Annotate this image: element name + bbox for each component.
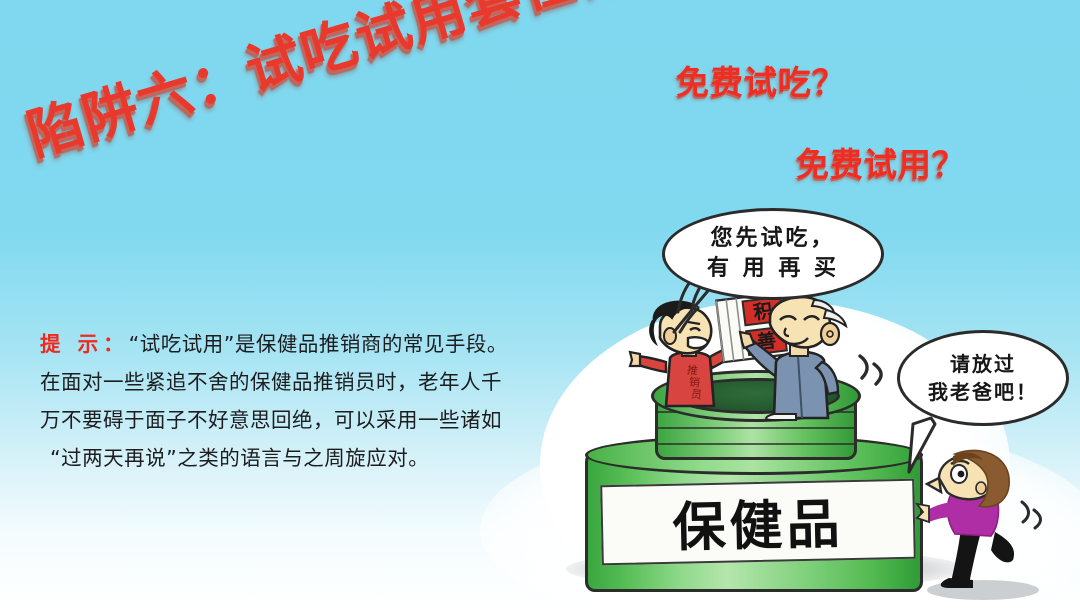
tip-paragraph: 提 示：“试吃试用”是保健品推销商的常见手段。 在面对一些紧追不舍的保健品推销员… — [40, 325, 586, 477]
jar-neck-rib — [658, 427, 854, 429]
callout-free-tasting: 免费试吃？ — [676, 56, 846, 104]
tip-line-3: 万不要碍于面子不好意思回绝，可以采用一些诸如 — [40, 401, 586, 439]
bubble-2-line-1: 请放过 — [950, 350, 1016, 378]
jar-label-text: 保健品 — [672, 482, 845, 562]
jar-neck-rib — [658, 443, 854, 445]
motion-lines-icon — [856, 350, 890, 394]
tip-line-4: “过两天再说”之类的语言与之周旋应对。 — [40, 439, 586, 477]
callout-free-trial: 免费试用？ — [796, 138, 966, 186]
tip-line-1: 提 示：“试吃试用”是保健品推销商的常见手段。 — [40, 325, 586, 363]
bubble-1-line-2: 有 用 再 买 — [707, 254, 839, 284]
elderly-man-figure — [752, 290, 872, 420]
jar-label: 保健品 — [600, 479, 916, 566]
poster-canvas: 陷阱六：试吃试用套住你 免费试吃？ 免费试用？ 提 示：“试吃试用”是保健品推销… — [0, 0, 1080, 608]
bubble-tail-2 — [905, 418, 945, 474]
bubble-2-line-2: 我老爸吧！ — [928, 378, 1038, 406]
speech-bubble-salesman: 您先试吃， 有 用 再 买 — [662, 208, 884, 300]
bubble-1-line-1: 您先试吃， — [710, 224, 835, 254]
tip-line-2: 在面对一些紧追不舍的保健品推销员时，老年人千 — [40, 363, 586, 401]
tip-label: 提 示： — [40, 332, 129, 356]
page-title: 陷阱六：试吃试用套住你 — [17, 0, 641, 170]
speech-bubble-daughter: 请放过 我老爸吧！ — [897, 330, 1069, 426]
svg-text:员: 员 — [690, 387, 703, 401]
tip-line-1-text: “试吃试用”是保健品推销商的常见手段。 — [129, 332, 508, 356]
